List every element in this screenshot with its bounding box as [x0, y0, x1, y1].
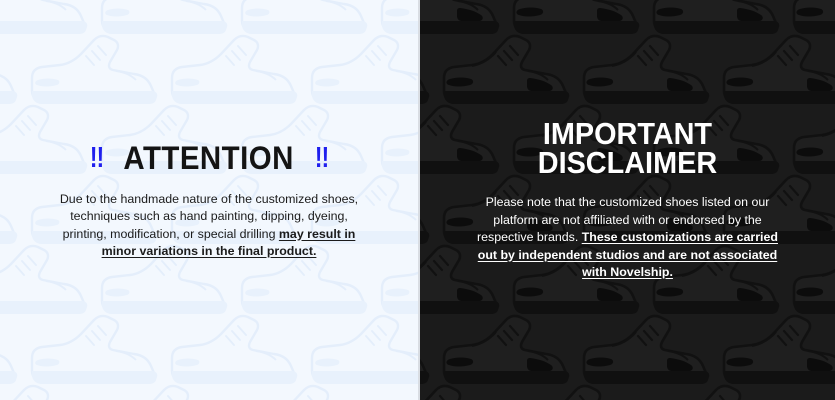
disclaimer-heading-line-2: DISCLAIMER	[538, 148, 717, 178]
exclamation-marks-right-icon: !!	[315, 142, 329, 175]
disclaimer-content: IMPORTANT DISCLAIMER Please note that th…	[420, 0, 835, 400]
disclaimer-heading-line-1: IMPORTANT	[538, 119, 717, 149]
exclamation-marks-left-icon: !!	[90, 142, 104, 175]
customization-notice-banner: !! ATTENTION !! Due to the handmade natu…	[0, 0, 835, 400]
attention-heading-word: ATTENTION	[124, 140, 294, 177]
attention-content: !! ATTENTION !! Due to the handmade natu…	[0, 0, 418, 400]
attention-heading: !! ATTENTION !!	[88, 140, 330, 177]
disclaimer-panel: IMPORTANT DISCLAIMER Please note that th…	[420, 0, 835, 400]
attention-panel: !! ATTENTION !! Due to the handmade natu…	[0, 0, 418, 400]
attention-body: Due to the handmade nature of the custom…	[59, 191, 359, 261]
disclaimer-heading: IMPORTANT DISCLAIMER	[531, 119, 724, 179]
disclaimer-body: Please note that the customized shoes li…	[473, 194, 783, 282]
